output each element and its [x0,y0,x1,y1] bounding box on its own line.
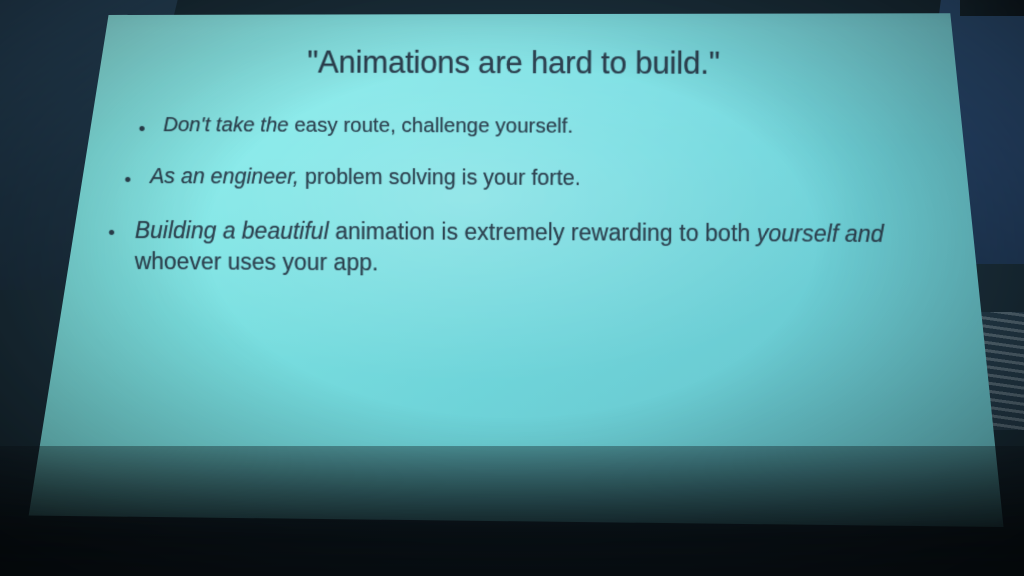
slide-bullet-emphasis-second-line: yourself and [757,220,884,247]
slide-bullet-text: As an engineer, problem solving is your … [150,162,933,194]
slide-bullet-emphasis: Don't take the [163,113,289,136]
slide-bullet-text: Building a beautiful animation is extrem… [135,215,933,281]
slide-bullet-item: • As an engineer, problem solving is you… [124,162,932,194]
presentation-photo-scene: "Animations are hard to build." • Don't … [0,0,1024,576]
slide-bullet-item: • Building a beautiful animation is extr… [108,215,932,281]
slide-bullet-list: • Don't take the easy route, challenge y… [108,111,933,281]
slide-bullet-rest: problem solving is your forte. [299,165,581,190]
slide-title: "Animations are hard to build." [2,44,1024,83]
slide-bullet-rest-second-line: whoever uses your app. [135,248,379,275]
room-floor-shadow [0,446,1024,576]
slide-bullet-item: • Don't take the easy route, challenge y… [139,111,933,142]
slide-bullet-emphasis: As an engineer, [150,164,299,189]
slide-bullet-text: Don't take the easy route, challenge you… [163,111,933,141]
slide-bullet-rest: easy route, challenge yourself. [289,114,574,138]
bullet-marker-icon: • [124,171,131,190]
slide-bullet-rest: animation is extremely rewarding to both [329,218,751,246]
bullet-marker-icon: • [139,120,146,139]
bullet-marker-icon: • [108,224,115,243]
slide-bullet-emphasis: Building a beautiful [135,217,329,244]
